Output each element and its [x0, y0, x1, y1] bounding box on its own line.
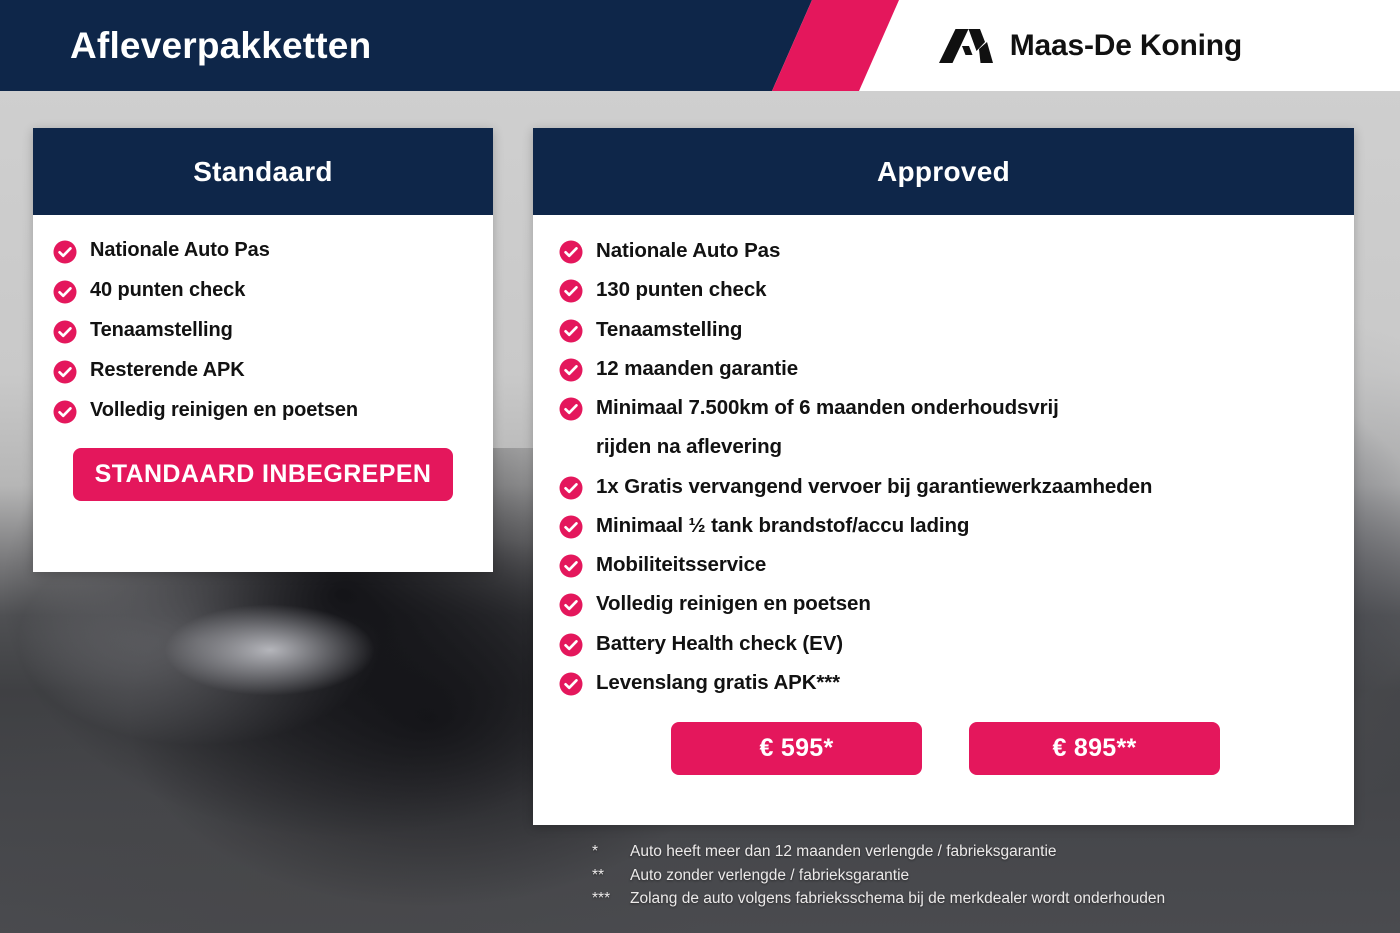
footnote-text: Auto heeft meer dan 12 maanden verlengde… — [630, 840, 1057, 864]
price-button-row: € 595* € 895** — [559, 722, 1332, 775]
feature-label: Minimaal 7.500km of 6 maanden onderhouds… — [596, 394, 1059, 421]
price-button-595[interactable]: € 595* — [671, 722, 922, 775]
check-circle-icon — [53, 240, 77, 264]
feature-list-approved: Nationale Auto Pas 130 punten check Tena… — [559, 237, 1332, 696]
check-circle-icon — [53, 400, 77, 424]
list-item: Tenaamstelling — [53, 317, 473, 344]
feature-label: Mobiliteitsservice — [596, 551, 766, 578]
list-item: Minimaal ½ tank brandstof/accu lading — [559, 512, 1332, 539]
list-item: 12 maanden garantie — [559, 355, 1332, 382]
feature-label: Nationale Auto Pas — [90, 237, 270, 264]
check-circle-icon — [559, 358, 583, 382]
package-body-standaard: Nationale Auto Pas 40 punten check Tenaa… — [33, 215, 493, 501]
check-circle-icon — [53, 280, 77, 304]
list-item: Minimaal 7.500km of 6 maanden onderhouds… — [559, 394, 1332, 421]
feature-label: 1x Gratis vervangend vervoer bij garanti… — [596, 473, 1152, 500]
feature-label: Minimaal ½ tank brandstof/accu lading — [596, 512, 969, 539]
check-circle-icon — [559, 593, 583, 617]
feature-label: Tenaamstelling — [596, 316, 742, 343]
check-circle-icon — [559, 319, 583, 343]
list-item: Resterende APK — [53, 357, 473, 384]
footnote-text: Auto zonder verlengde / fabrieksgarantie — [630, 864, 909, 888]
check-circle-icon — [559, 633, 583, 657]
check-circle-icon — [559, 279, 583, 303]
footnote-marker: ** — [592, 864, 630, 888]
background-highlight — [120, 585, 420, 715]
list-item: Volledig reinigen en poetsen — [559, 590, 1332, 617]
price-button-895[interactable]: € 895** — [969, 722, 1220, 775]
list-item: Nationale Auto Pas — [53, 237, 473, 264]
feature-label: 40 punten check — [90, 277, 245, 304]
footnote-text: Zolang de auto volgens fabrieksschema bi… — [630, 887, 1165, 911]
list-item: Mobiliteitsservice — [559, 551, 1332, 578]
check-circle-icon — [559, 554, 583, 578]
check-circle-icon — [53, 360, 77, 384]
check-circle-icon — [559, 397, 583, 421]
package-card-standaard: Standaard Nationale Auto Pas 40 punten c… — [33, 128, 493, 572]
feature-label: rijden na aflevering — [596, 433, 782, 460]
afleverpakketten-page: Afleverpakketten Maas-De Koning Standaar… — [0, 0, 1400, 933]
package-body-approved: Nationale Auto Pas 130 punten check Tena… — [533, 215, 1354, 775]
list-item: 40 punten check — [53, 277, 473, 304]
list-item: Levenslang gratis APK*** — [559, 669, 1332, 696]
package-card-approved: Approved Nationale Auto Pas 130 punten c… — [533, 128, 1354, 825]
list-item: Battery Health check (EV) — [559, 630, 1332, 657]
list-item: Nationale Auto Pas — [559, 237, 1332, 264]
check-circle-icon — [559, 240, 583, 264]
footnote-single-asterisk: * Auto heeft meer dan 12 maanden verleng… — [592, 840, 1352, 864]
package-title-standaard: Standaard — [33, 128, 493, 215]
check-circle-icon — [559, 515, 583, 539]
footnote-marker: *** — [592, 887, 630, 911]
maas-de-koning-m-mark-icon — [938, 24, 994, 68]
package-title-approved: Approved — [533, 128, 1354, 215]
brand-name: Maas-De Koning — [1010, 29, 1242, 63]
list-item: 130 punten check — [559, 276, 1332, 303]
footnote-triple-asterisk: *** Zolang de auto volgens fabrieksschem… — [592, 887, 1352, 911]
feature-label: 130 punten check — [596, 276, 766, 303]
feature-label: Levenslang gratis APK*** — [596, 669, 840, 696]
footnotes: * Auto heeft meer dan 12 maanden verleng… — [592, 840, 1352, 911]
feature-label: Tenaamstelling — [90, 317, 233, 344]
list-item: 1x Gratis vervangend vervoer bij garanti… — [559, 473, 1332, 500]
footnote-double-asterisk: ** Auto zonder verlengde / fabrieksgaran… — [592, 864, 1352, 888]
feature-label: Volledig reinigen en poetsen — [90, 397, 358, 424]
standaard-inbegrepen-button[interactable]: STANDAARD INBEGREPEN — [73, 448, 453, 501]
check-circle-icon — [559, 672, 583, 696]
feature-label: 12 maanden garantie — [596, 355, 798, 382]
page-title: Afleverpakketten — [70, 0, 371, 91]
page-header: Afleverpakketten Maas-De Koning — [0, 0, 1400, 91]
list-item: Tenaamstelling — [559, 316, 1332, 343]
feature-list-standaard: Nationale Auto Pas 40 punten check Tenaa… — [53, 237, 473, 424]
footnote-marker: * — [592, 840, 630, 864]
feature-label: Battery Health check (EV) — [596, 630, 843, 657]
feature-label: Volledig reinigen en poetsen — [596, 590, 871, 617]
feature-label: Resterende APK — [90, 357, 245, 384]
brand-logo: Maas-De Koning — [938, 0, 1242, 91]
check-circle-icon — [559, 476, 583, 500]
feature-label: Nationale Auto Pas — [596, 237, 780, 264]
list-item: Volledig reinigen en poetsen — [53, 397, 473, 424]
check-circle-icon — [53, 320, 77, 344]
list-item-continuation: rijden na aflevering — [559, 433, 1332, 460]
